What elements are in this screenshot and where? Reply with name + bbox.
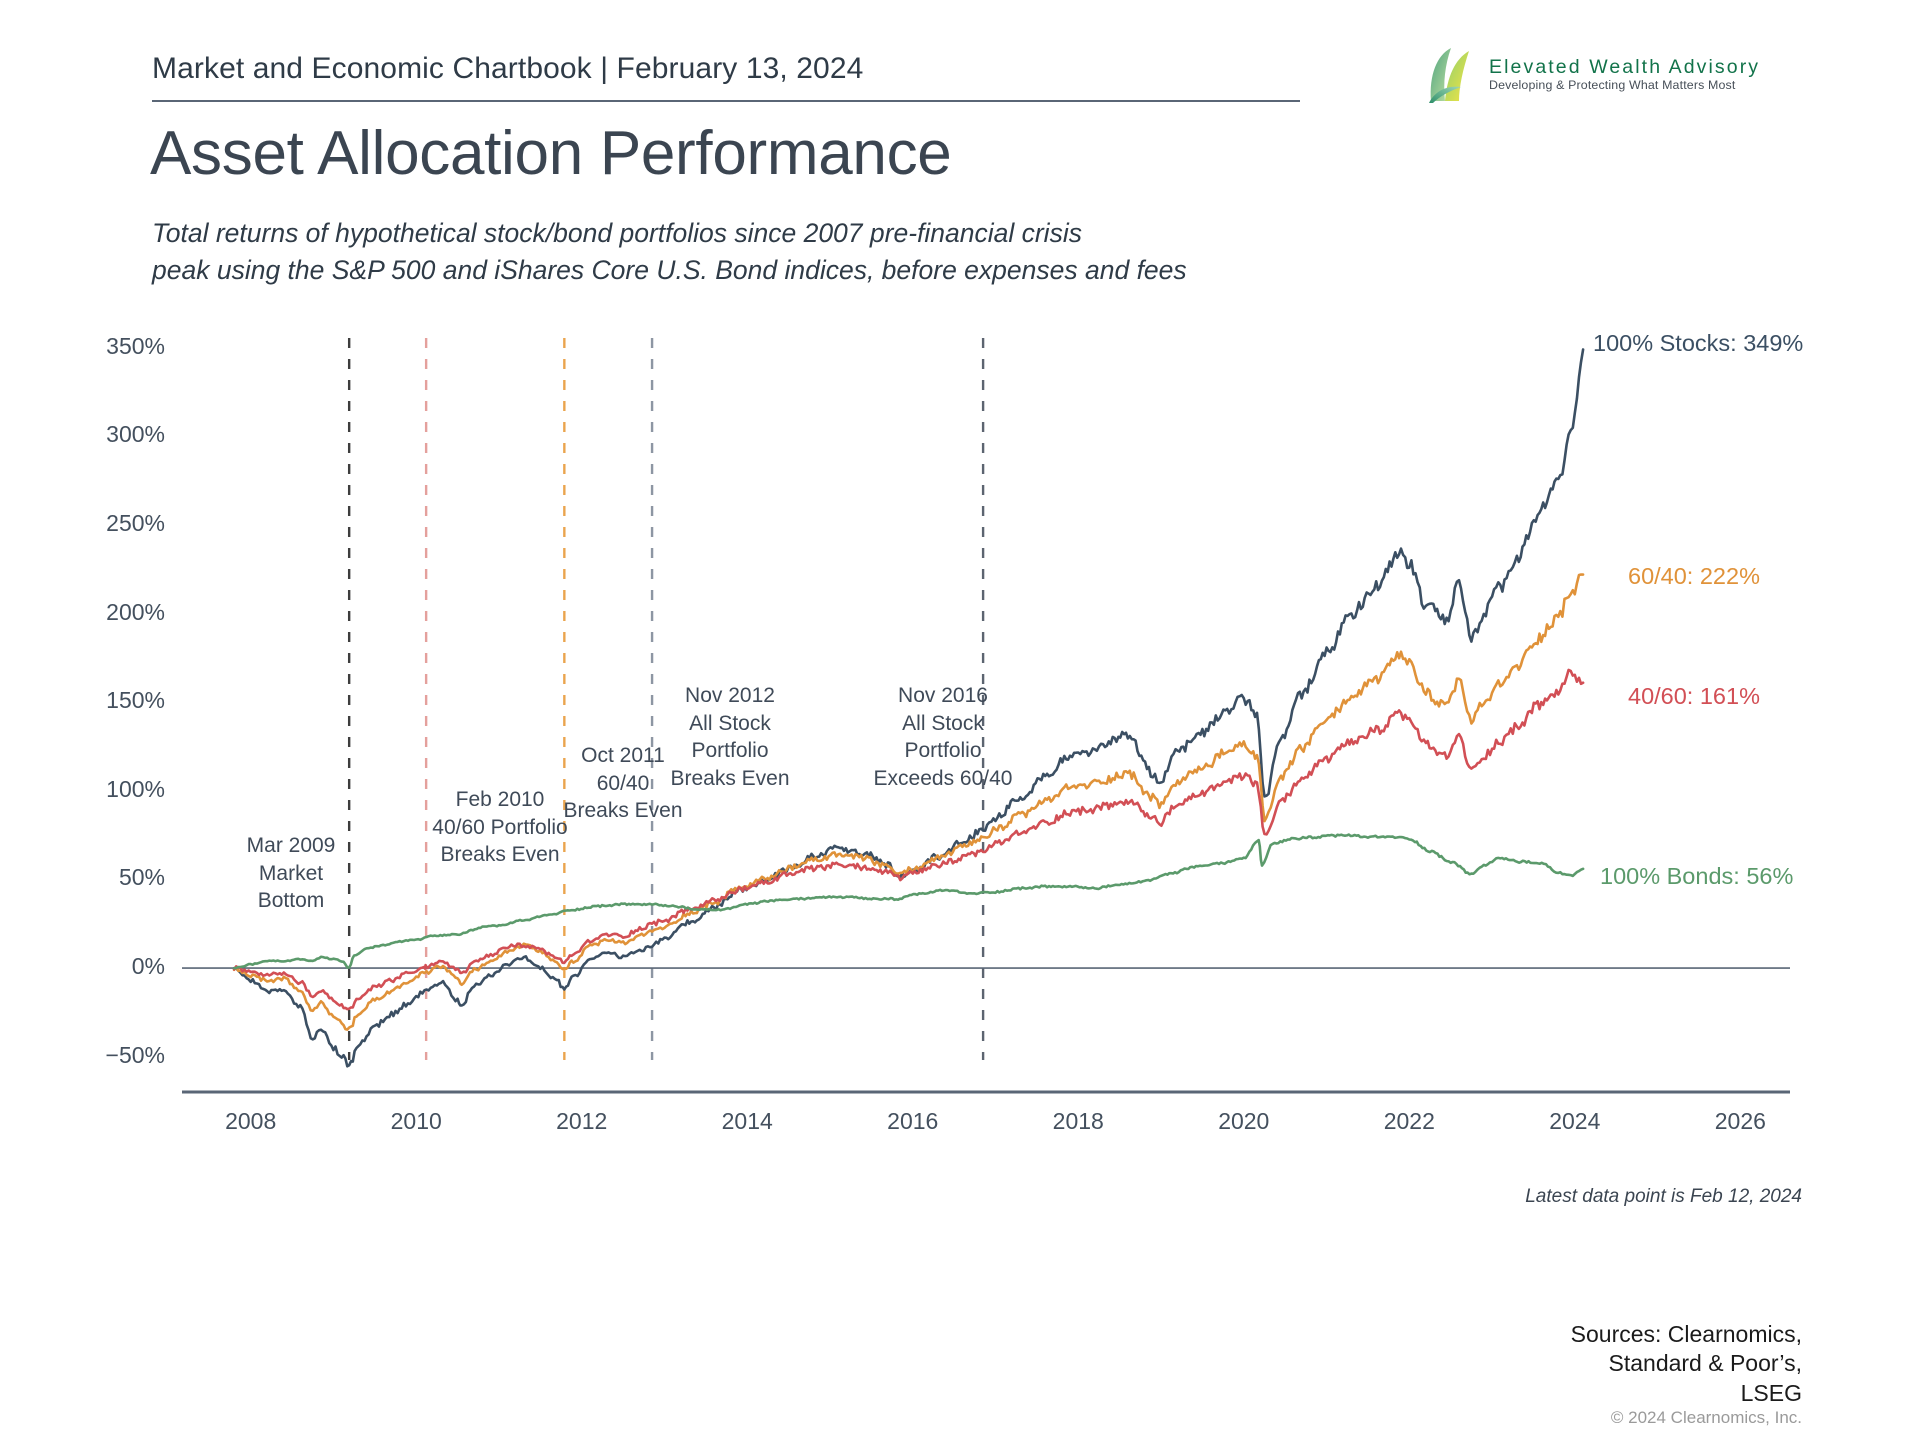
series-end-label-60-40: 60/40: 222% bbox=[1628, 563, 1760, 590]
series-end-label-40-60: 40/60: 161% bbox=[1628, 683, 1760, 710]
sources-note: Sources: Clearnomics, Standard & Poor’s,… bbox=[1382, 1320, 1802, 1408]
y-axis-tick-label: 350% bbox=[55, 333, 165, 360]
y-axis-tick-label: 50% bbox=[55, 864, 165, 891]
annotation-mar-2009: Mar 2009MarketBottom bbox=[226, 832, 356, 915]
latest-data-point-note: Latest data point is Feb 12, 2024 bbox=[1525, 1186, 1802, 1208]
annotation-line: Breaks Even bbox=[650, 765, 810, 793]
sources-line-2: Standard & Poor’s, bbox=[1382, 1349, 1802, 1378]
y-axis-tick-label: 300% bbox=[55, 421, 165, 448]
annotation-line: Nov 2012 bbox=[650, 682, 810, 710]
x-axis-tick-label: 2020 bbox=[1184, 1108, 1304, 1135]
x-axis-tick-label: 2018 bbox=[1018, 1108, 1138, 1135]
annotation-line: All Stock bbox=[650, 710, 810, 738]
sources-line-1: Sources: Clearnomics, bbox=[1382, 1320, 1802, 1349]
chart-page: Market and Economic Chartbook | February… bbox=[0, 0, 1920, 1440]
annotation-line: Market bbox=[226, 860, 356, 888]
annotation-line: Mar 2009 bbox=[226, 832, 356, 860]
y-axis-tick-label: 250% bbox=[55, 510, 165, 537]
y-axis-tick-label: 100% bbox=[55, 776, 165, 803]
y-axis-tick-label: 0% bbox=[55, 953, 165, 980]
x-axis-tick-label: 2024 bbox=[1515, 1108, 1635, 1135]
annotation-line: Portfolio bbox=[650, 737, 810, 765]
annotation-line: Bottom bbox=[226, 887, 356, 915]
y-axis-tick-label: −50% bbox=[55, 1042, 165, 1069]
annotation-line: Breaks Even bbox=[400, 841, 600, 869]
annotation-line: All Stock bbox=[848, 710, 1038, 738]
copyright-note: © 2024 Clearnomics, Inc. bbox=[1382, 1408, 1802, 1428]
annotation-nov-2012: Nov 2012All StockPortfolioBreaks Even bbox=[650, 682, 810, 793]
sources-line-3: LSEG bbox=[1382, 1379, 1802, 1408]
x-axis-tick-label: 2014 bbox=[687, 1108, 807, 1135]
x-axis-tick-label: 2026 bbox=[1680, 1108, 1800, 1135]
annotation-line: Breaks Even bbox=[548, 797, 698, 825]
annotation-nov-2016: Nov 2016All StockPortfolioExceeds 60/40 bbox=[848, 682, 1038, 793]
x-axis-tick-label: 2022 bbox=[1349, 1108, 1469, 1135]
annotation-line: Exceeds 60/40 bbox=[848, 765, 1038, 793]
series-end-label-100-stocks: 100% Stocks: 349% bbox=[1593, 330, 1803, 357]
x-axis-tick-label: 2010 bbox=[356, 1108, 476, 1135]
x-axis-tick-label: 2016 bbox=[853, 1108, 973, 1135]
y-axis-tick-label: 150% bbox=[55, 687, 165, 714]
annotation-line: Portfolio bbox=[848, 737, 1038, 765]
series-end-label-100-bonds: 100% Bonds: 56% bbox=[1600, 863, 1793, 890]
x-axis-tick-label: 2008 bbox=[191, 1108, 311, 1135]
x-axis-tick-label: 2012 bbox=[522, 1108, 642, 1135]
y-axis-tick-label: 200% bbox=[55, 599, 165, 626]
annotation-line: Nov 2016 bbox=[848, 682, 1038, 710]
